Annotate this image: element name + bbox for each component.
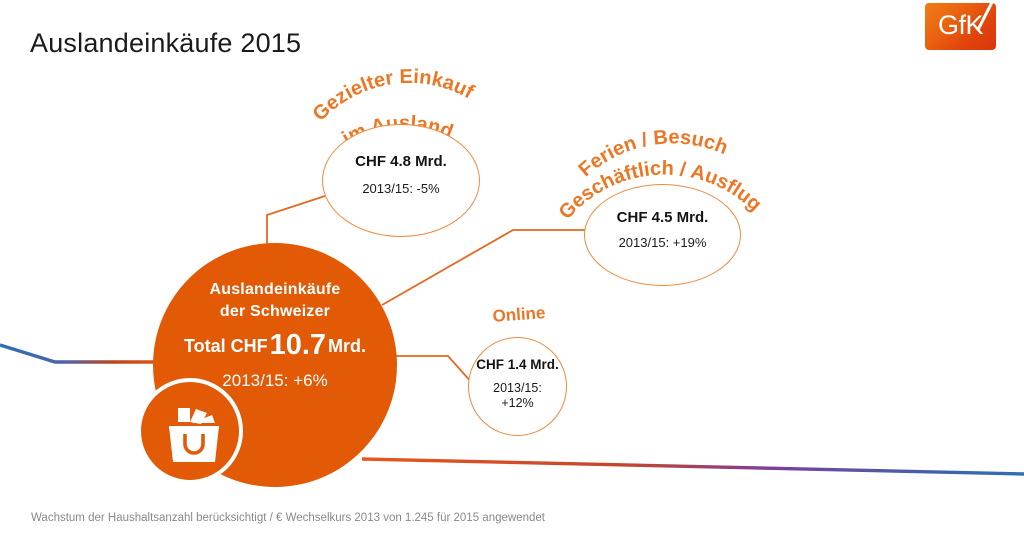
shopping-bag-icon xyxy=(166,406,222,464)
main-bubble-total-value: 10.7 xyxy=(268,329,328,361)
main-bubble-line2: der Schweizer xyxy=(153,303,397,321)
segment-value-ferien-besuch: CHF 4.5 Mrd. xyxy=(585,209,740,226)
segment-growth-gezielter-einkauf: 2013/15: -5% xyxy=(323,181,479,196)
segment-bubble-gezielter-einkauf[interactable]: CHF 4.8 Mrd. 2013/15: -5% xyxy=(322,124,480,237)
segment-bubble-ferien-besuch[interactable]: CHF 4.5 Mrd. 2013/15: +19% xyxy=(584,184,741,286)
deco-line-bottom xyxy=(362,459,1024,474)
main-bubble-line1: Auslandeinkäufe xyxy=(153,281,397,299)
main-bubble-total-prefix: Total CHF xyxy=(184,336,268,356)
segment-growth-online-line1: 2013/15: xyxy=(469,381,566,396)
segment-growth-ferien-besuch: 2013/15: +19% xyxy=(585,235,740,250)
main-bubble-total: Total CHF10.7Mrd. xyxy=(153,329,397,362)
slide-canvas: Auslandeinkäufe 2015 GfK xyxy=(0,0,1024,533)
segment-growth-online-line2: +12% xyxy=(469,396,566,411)
segment-bubble-online[interactable]: CHF 1.4 Mrd. 2013/15: +12% xyxy=(468,337,567,436)
main-bubble-total-unit: Mrd. xyxy=(328,336,366,356)
segment-value-gezielter-einkauf: CHF 4.8 Mrd. xyxy=(323,153,479,170)
deco-line-left xyxy=(0,345,160,362)
footnote: Wachstum der Haushaltsanzahl berücksicht… xyxy=(31,512,545,524)
segment-value-online: CHF 1.4 Mrd. xyxy=(469,357,566,372)
connector-ferien-besuch xyxy=(382,230,587,305)
shopping-bag-icon-badge xyxy=(137,378,243,484)
segment-growth-online: 2013/15: +12% xyxy=(469,381,566,411)
